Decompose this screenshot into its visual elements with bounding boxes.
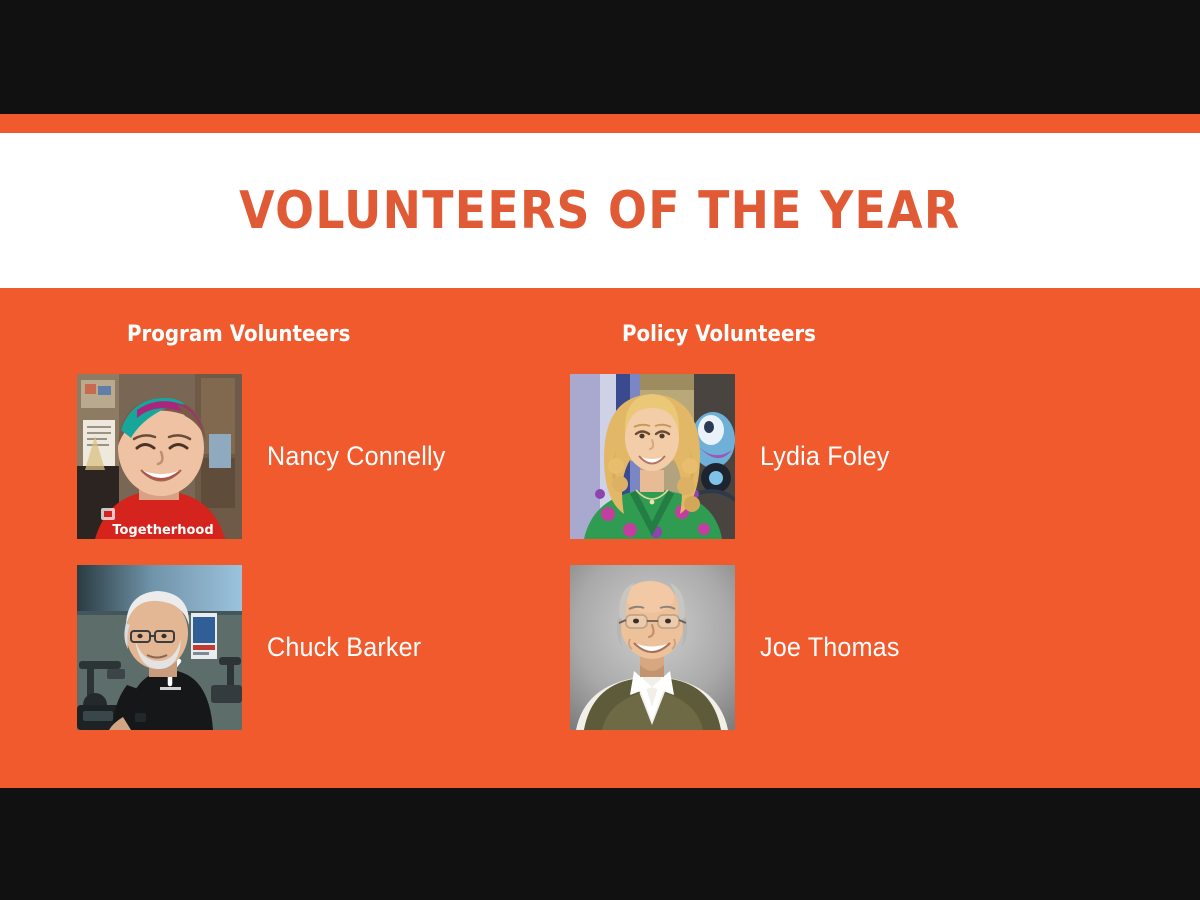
- list-item: Joe Thomas: [570, 565, 910, 730]
- title-band: VOLUNTEERS OF THE YEAR: [0, 133, 1200, 288]
- person-name: Chuck Barker: [267, 632, 421, 663]
- page-title: VOLUNTEERS OF THE YEAR: [239, 181, 960, 241]
- photo-joe-thomas: [570, 565, 735, 730]
- person-name: Nancy Connelly: [267, 441, 445, 472]
- letterbox-bottom: [0, 788, 1200, 900]
- column-heading-policy: Policy Volunteers: [622, 322, 816, 347]
- photo-chuck-barker: [77, 565, 242, 730]
- list-item: Lydia Foley: [570, 374, 899, 539]
- column-program-volunteers: Program Volunteers: [77, 288, 557, 788]
- svg-text:Togetherhood: Togetherhood: [112, 523, 213, 538]
- column-policy-volunteers: Policy Volunteers: [570, 288, 1050, 788]
- accent-stripe: [0, 114, 1200, 133]
- list-item: Chuck Barker: [77, 565, 433, 730]
- list-item: Togetherhood: [77, 374, 459, 539]
- column-heading-program: Program Volunteers: [127, 322, 350, 347]
- photo-nancy-connelly: Togetherhood: [77, 374, 242, 539]
- person-name: Lydia Foley: [760, 441, 890, 472]
- slide-body: Program Volunteers: [0, 288, 1200, 788]
- letterbox-top: [0, 0, 1200, 114]
- photo-lydia-foley: [570, 374, 735, 539]
- slide: VOLUNTEERS OF THE YEAR Program Volunteer…: [0, 0, 1200, 900]
- person-name: Joe Thomas: [760, 632, 900, 663]
